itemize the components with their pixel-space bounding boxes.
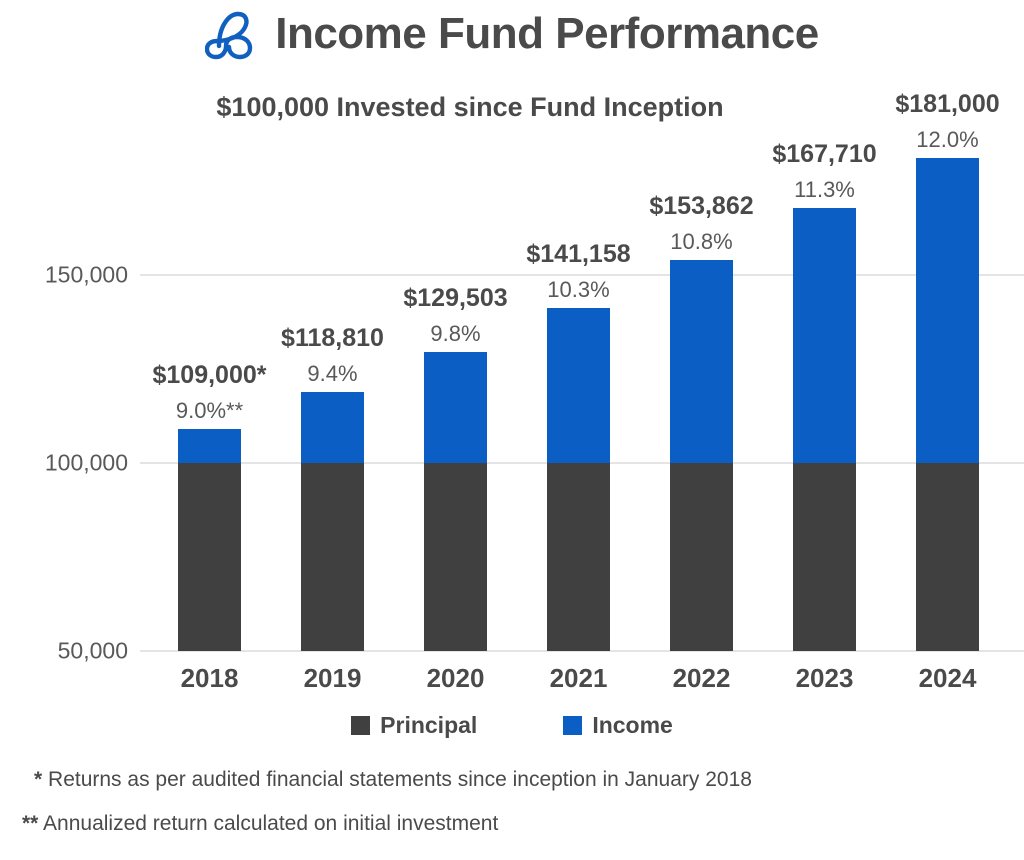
bar-group-2020[interactable]: [424, 352, 487, 651]
bar-group-2018[interactable]: [178, 429, 241, 651]
bar-total-label-2019: $118,810: [281, 324, 384, 353]
footnote-double-asterisk: ** Annualized return calculated on initi…: [22, 812, 498, 836]
bar-percent-label-2023: 11.3%: [794, 177, 855, 203]
x-axis-tick-label-2018: 2018: [181, 663, 239, 694]
footnote-marker: **: [22, 812, 38, 835]
legend-label: Principal: [380, 712, 477, 739]
bar-total-label-2022: $153,862: [649, 192, 753, 221]
bar-segment-income-2019[interactable]: [301, 392, 364, 463]
bar-segment-income-2022[interactable]: [670, 260, 733, 463]
bar-group-2021[interactable]: [547, 308, 610, 651]
x-axis-tick-label-2020: 2020: [427, 663, 485, 694]
y-axis-tick-label: 50,000: [58, 638, 128, 665]
bar-segment-principal-2024[interactable]: [916, 463, 979, 651]
footnote-single-asterisk: * Returns as per audited financial state…: [34, 768, 752, 792]
bar-total-label-2024: $181,000: [895, 90, 999, 119]
y-axis-tick-label: 150,000: [45, 262, 128, 289]
bar-segment-income-2020[interactable]: [424, 352, 487, 463]
x-axis-tick-label-2024: 2024: [919, 663, 977, 694]
x-axis-tick-label-2021: 2021: [550, 663, 608, 694]
x-axis-tick-label-2023: 2023: [796, 663, 854, 694]
legend-item-income[interactable]: Income: [563, 712, 673, 739]
footnote-marker: *: [34, 768, 42, 791]
legend-label: Income: [592, 712, 673, 739]
legend-item-principal[interactable]: Principal: [351, 712, 477, 739]
y-axis-tick-label: 100,000: [45, 450, 128, 477]
chart-legend: PrincipalIncome: [0, 712, 1024, 739]
bar-segment-income-2024[interactable]: [916, 158, 979, 463]
bar-percent-label-2020: 9.8%: [430, 321, 480, 347]
bar-segment-principal-2019[interactable]: [301, 463, 364, 651]
bar-segment-principal-2018[interactable]: [178, 463, 241, 651]
bar-percent-label-2021: 10.3%: [547, 277, 609, 303]
bar-total-label-2023: $167,710: [772, 140, 876, 169]
bar-segment-income-2018[interactable]: [178, 429, 241, 463]
bar-segment-principal-2020[interactable]: [424, 463, 487, 651]
bar-group-2019[interactable]: [301, 392, 364, 651]
x-axis-tick-label-2022: 2022: [673, 663, 731, 694]
bar-percent-label-2018: 9.0%**: [176, 398, 243, 424]
bar-segment-principal-2023[interactable]: [793, 463, 856, 651]
footnote-text: Returns as per audited financial stateme…: [42, 768, 752, 791]
bar-total-label-2020: $129,503: [403, 284, 507, 313]
bar-percent-label-2024: 12.0%: [916, 127, 978, 153]
bar-group-2024[interactable]: [916, 158, 979, 651]
legend-square-swatch-icon: [563, 716, 582, 735]
bar-percent-label-2019: 9.4%: [307, 361, 357, 387]
footnote-text: Annualized return calculated on initial …: [38, 812, 498, 835]
gridline: [140, 274, 1024, 276]
bar-segment-principal-2021[interactable]: [547, 463, 610, 651]
bar-total-label-2021: $141,158: [526, 240, 630, 269]
bar-total-label-2018: $109,000*: [152, 361, 266, 390]
bar-segment-principal-2022[interactable]: [670, 463, 733, 651]
legend-square-swatch-icon: [351, 716, 370, 735]
bar-group-2022[interactable]: [670, 260, 733, 651]
bar-group-2023[interactable]: [793, 208, 856, 651]
bar-percent-label-2022: 10.8%: [670, 229, 732, 255]
bar-segment-income-2023[interactable]: [793, 208, 856, 463]
bar-segment-income-2021[interactable]: [547, 308, 610, 463]
x-axis-tick-label-2019: 2019: [304, 663, 362, 694]
